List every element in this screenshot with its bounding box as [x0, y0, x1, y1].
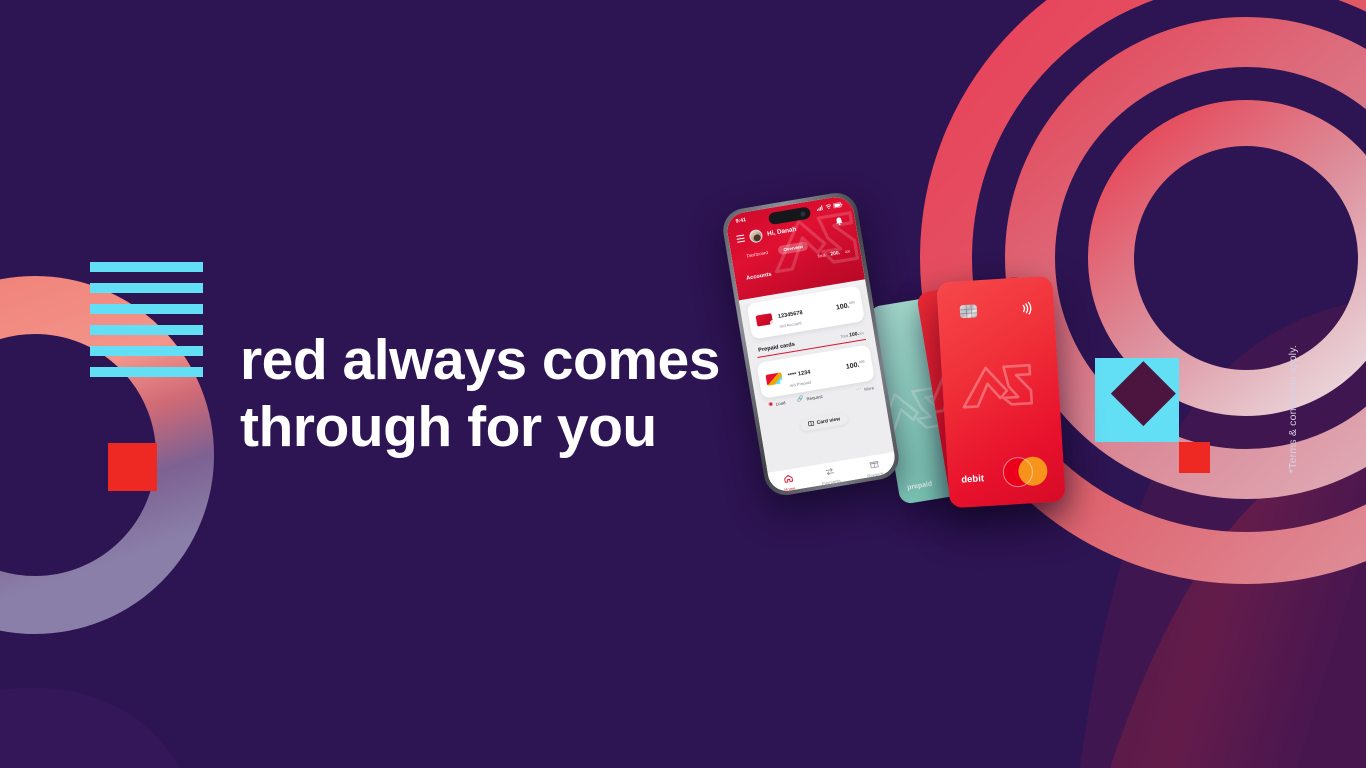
contactless-icon: [1020, 301, 1035, 316]
cyan-bar: [90, 325, 203, 335]
cyan-bar: [90, 304, 203, 314]
request-link-icon: 🔗: [797, 397, 805, 404]
prepaid-total-decimals: 000: [859, 331, 865, 336]
phone-screen: 9:41: [725, 194, 898, 493]
account-number: 12345678: [778, 310, 804, 320]
headline-rest-line1: always comes: [327, 328, 720, 392]
payments-icon: [825, 467, 836, 478]
diamond-square-decoration: [1093, 358, 1213, 483]
red-square-right: [1179, 442, 1210, 473]
phone-mockup: 9:41: [720, 190, 902, 498]
account-card-thumb-icon: [755, 313, 773, 326]
cyan-bar: [90, 283, 203, 293]
terms-and-conditions: *Terms & conditions apply.: [1287, 195, 1299, 345]
prepaid-card-thumb-icon: [765, 372, 783, 385]
rewards-gift-icon: [869, 460, 880, 471]
device-and-cards-group: prepaid debit: [735, 195, 1085, 555]
card-view-button[interactable]: Card view: [799, 411, 849, 431]
home-icon: [783, 474, 794, 485]
red-square-left: [108, 443, 157, 491]
cyan-bars-decoration: [90, 262, 203, 388]
hamburger-menu-icon[interactable]: [736, 235, 745, 243]
cyan-bar: [90, 367, 203, 377]
front-camera-icon: [800, 211, 806, 217]
prepaid-card-label: prepaid: [907, 481, 933, 492]
cyan-bar: [90, 262, 203, 272]
red-wing-logo: [955, 354, 1049, 421]
nav-item-home[interactable]: Home: [782, 474, 796, 493]
prepaid-amount: 100.000: [845, 359, 865, 370]
card-view-icon: [807, 421, 814, 427]
debit-card-front: debit: [936, 276, 1066, 509]
hero-banner: red always comes through for you *Terms …: [0, 0, 1366, 768]
headline-lead-word: red: [240, 328, 327, 392]
account-amount: 100.000: [835, 300, 855, 311]
cyan-bar: [90, 346, 203, 356]
debit-card-front-label: debit: [961, 473, 984, 485]
prepaid-total-label: Total: [840, 334, 849, 339]
mastercard-logo: [1000, 454, 1052, 489]
more-dots-icon: ⋯: [856, 387, 862, 393]
emv-chip-icon: [960, 304, 978, 318]
prepaid-number: **** 1234: [788, 370, 811, 380]
load-icon: ◉: [768, 402, 774, 408]
